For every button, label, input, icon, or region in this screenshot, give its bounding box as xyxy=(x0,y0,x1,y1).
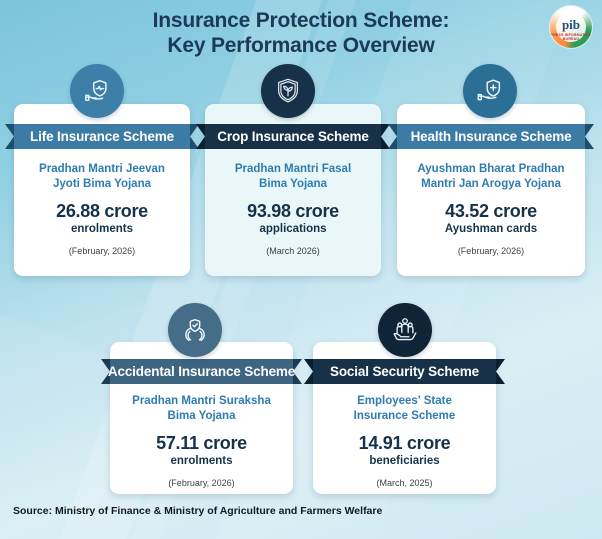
card-banner-label: Crop Insurance Scheme xyxy=(217,129,368,144)
metric-label: enrolments xyxy=(22,222,182,236)
metric-label: enrolments xyxy=(118,454,285,468)
page-title-line-2: Key Performance Overview xyxy=(0,33,602,58)
scheme-name-line-2: Bima Yojana xyxy=(168,410,236,422)
source-note: Source: Ministry of Finance & Ministry o… xyxy=(13,505,382,517)
scheme-name: Pradhan Mantri Fasal Bima Yojana xyxy=(213,162,373,191)
card-banner-label: Social Security Scheme xyxy=(330,364,479,379)
scheme-name: Pradhan Mantri Jeevan Jyoti Bima Yojana xyxy=(22,162,182,191)
ribbon-tail-right xyxy=(496,359,505,384)
scheme-name-line-2: Bima Yojana xyxy=(259,178,327,190)
card-banner-label: Life Insurance Scheme xyxy=(30,129,174,144)
scheme-name-line-2: Insurance Scheme xyxy=(354,410,456,422)
key-figure: 43.52 crore xyxy=(405,200,577,222)
card-banner: Life Insurance Scheme xyxy=(5,124,199,149)
metric-label: beneficiaries xyxy=(321,454,488,468)
card-body: Pradhan Mantri Suraksha Bima Yojana 57.1… xyxy=(118,394,285,489)
hand-family-icon xyxy=(378,303,432,357)
metric-label: applications xyxy=(213,222,373,236)
key-figure: 26.88 crore xyxy=(22,200,182,222)
scheme-name: Employees' State Insurance Scheme xyxy=(321,394,488,423)
infographic-poster: Insurance Protection Scheme: Key Perform… xyxy=(0,0,602,539)
shield-crop-icon xyxy=(261,64,315,118)
hand-shield-cross-icon xyxy=(463,64,517,118)
period-label: (February, 2026) xyxy=(22,245,182,257)
ribbon-tail-right xyxy=(585,124,594,149)
scheme-name-line-2: Jyoti Bima Yojana xyxy=(53,178,151,190)
key-figure: 14.91 crore xyxy=(321,432,488,454)
card-body: Employees' State Insurance Scheme 14.91 … xyxy=(321,394,488,489)
card-banner: Social Security Scheme xyxy=(304,359,505,384)
scheme-name: Ayushman Bharat Pradhan Mantri Jan Arogy… xyxy=(405,162,577,191)
page-title-line-1: Insurance Protection Scheme: xyxy=(0,8,602,33)
ribbon-tail-left xyxy=(5,124,14,149)
metric-label: Ayushman cards xyxy=(405,222,577,236)
card-health-insurance-scheme[interactable]: Health Insurance Scheme Ayushman Bharat … xyxy=(397,104,585,276)
scheme-name-line-1: Employees' State xyxy=(357,395,452,407)
scheme-name-line-1: Ayushman Bharat Pradhan xyxy=(417,163,564,175)
period-label: (March, 2025) xyxy=(321,477,488,489)
card-banner-label: Accidental Insurance Scheme xyxy=(108,364,295,379)
card-banner: Health Insurance Scheme xyxy=(388,124,594,149)
ribbon-tail-left xyxy=(388,124,397,149)
key-figure: 93.98 crore xyxy=(213,200,373,222)
card-banner: Accidental Insurance Scheme xyxy=(101,359,302,384)
card-crop-insurance-scheme[interactable]: Crop Insurance Scheme Pradhan Mantri Fas… xyxy=(205,104,381,276)
key-figure: 57.11 crore xyxy=(118,432,285,454)
scheme-name: Pradhan Mantri Suraksha Bima Yojana xyxy=(118,394,285,423)
card-body: Pradhan Mantri Jeevan Jyoti Bima Yojana … xyxy=(22,162,182,257)
scheme-name-line-2: Mantri Jan Arogya Yojana xyxy=(421,178,561,190)
card-social-security-scheme[interactable]: Social Security Scheme Employees' State … xyxy=(313,342,496,494)
hand-shield-heartbeat-icon xyxy=(70,64,124,118)
scheme-name-line-1: Pradhan Mantri Fasal xyxy=(235,163,351,175)
header: Insurance Protection Scheme: Key Perform… xyxy=(0,8,602,58)
pib-logo: pib PRESS INFORMATION BUREAU xyxy=(550,6,592,48)
card-body: Pradhan Mantri Fasal Bima Yojana 93.98 c… xyxy=(213,162,373,257)
scheme-name-line-1: Pradhan Mantri Suraksha xyxy=(132,395,271,407)
period-label: (February, 2026) xyxy=(405,245,577,257)
ribbon-tail-left xyxy=(304,359,313,384)
card-body: Ayushman Bharat Pradhan Mantri Jan Arogy… xyxy=(405,162,577,257)
logo-wordmark: pib xyxy=(550,18,592,31)
period-label: (March 2026) xyxy=(213,245,373,257)
card-banner-label: Health Insurance Scheme xyxy=(411,129,572,144)
card-life-insurance-scheme[interactable]: Life Insurance Scheme Pradhan Mantri Jee… xyxy=(14,104,190,276)
logo-subtext: PRESS INFORMATION BUREAU xyxy=(550,33,592,41)
ribbon-tail-left xyxy=(196,124,205,149)
period-label: (February, 2026) xyxy=(118,477,285,489)
card-banner: Crop Insurance Scheme xyxy=(196,124,390,149)
hands-shield-check-icon xyxy=(168,303,222,357)
scheme-name-line-1: Pradhan Mantri Jeevan xyxy=(39,163,165,175)
card-accidental-insurance-scheme[interactable]: Accidental Insurance Scheme Pradhan Mant… xyxy=(110,342,293,494)
